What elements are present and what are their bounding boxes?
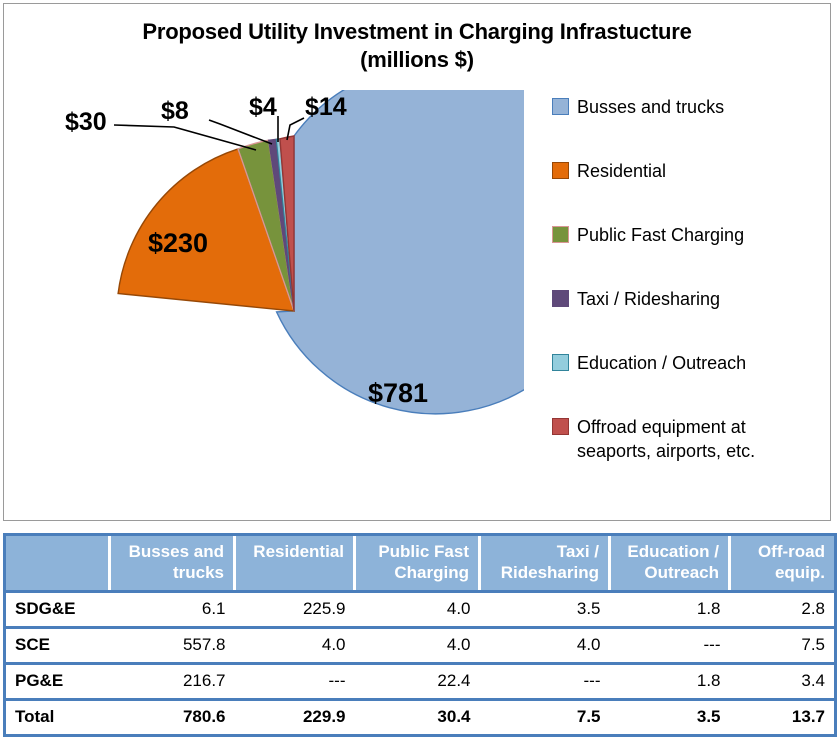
leader-line-taxi-ridesharing <box>209 120 272 144</box>
table-cell: 3.5 <box>610 700 730 736</box>
table-header-offroad-equip: Off-road equip. <box>730 535 836 592</box>
legend-swatch-icon <box>552 226 569 243</box>
legend-item-education-outreach[interactable]: Education / Outreach <box>552 352 827 416</box>
pie-chart: $30 $8 $4 $14 $230 $781 <box>4 90 524 520</box>
pie-callout-education-outreach: $4 <box>249 93 277 121</box>
table-cell: 225.9 <box>235 592 355 628</box>
pie-label-residential: $230 <box>148 228 208 258</box>
legend-item-offroad-equipment[interactable]: Offroad equipment at seaports, airports,… <box>552 416 827 480</box>
table-cell: 1.8 <box>610 664 730 700</box>
pie-label-busses-and-trucks: $781 <box>368 378 428 408</box>
table-cell: 7.5 <box>480 700 610 736</box>
legend-item-taxi-ridesharing[interactable]: Taxi / Ridesharing <box>552 288 827 352</box>
legend-label: Public Fast Charging <box>577 224 744 248</box>
legend-label: Offroad equipment at seaports, airports,… <box>577 416 755 464</box>
legend-label: Taxi / Ridesharing <box>577 288 720 312</box>
table-row-label-total: Total <box>5 700 110 736</box>
table-cell: 229.9 <box>235 700 355 736</box>
table-header-taxi-ridesharing: Taxi / Ridesharing <box>480 535 610 592</box>
legend-swatch-icon <box>552 418 569 435</box>
chart-panel: Proposed Utility Investment in Charging … <box>3 3 831 521</box>
legend-swatch-icon <box>552 290 569 307</box>
chart-title-line2: (millions $) <box>4 46 830 74</box>
table-cell: 13.7 <box>730 700 836 736</box>
table-cell: 1.8 <box>610 592 730 628</box>
chart-title: Proposed Utility Investment in Charging … <box>4 18 830 73</box>
table-corner-cell <box>5 535 110 592</box>
pie-svg: $30 $8 $4 $14 $230 $781 <box>4 90 524 520</box>
table-cell: 216.7 <box>110 664 235 700</box>
legend-label: Residential <box>577 160 666 184</box>
table-header-public-fast-charging: Public Fast Charging <box>355 535 480 592</box>
investment-data-table: Busses and trucks Residential Public Fas… <box>3 533 837 737</box>
table-header-row: Busses and trucks Residential Public Fas… <box>5 535 836 592</box>
table-cell: 4.0 <box>480 628 610 664</box>
table-cell: 4.0 <box>355 592 480 628</box>
legend-swatch-icon <box>552 98 569 115</box>
table-cell: 30.4 <box>355 700 480 736</box>
legend-swatch-icon <box>552 162 569 179</box>
table-header-busses-and-trucks: Busses and trucks <box>110 535 235 592</box>
table-cell: 4.0 <box>235 628 355 664</box>
table-cell: --- <box>235 664 355 700</box>
pie-callout-public-fast-charging: $30 <box>65 108 107 136</box>
table-header-residential: Residential <box>235 535 355 592</box>
legend-label: Busses and trucks <box>577 96 724 120</box>
chart-title-line1: Proposed Utility Investment in Charging … <box>142 19 691 44</box>
table-row: SCE 557.8 4.0 4.0 4.0 --- 7.5 <box>5 628 836 664</box>
table-row: PG&E 216.7 --- 22.4 --- 1.8 3.4 <box>5 664 836 700</box>
table-row: SDG&E 6.1 225.9 4.0 3.5 1.8 2.8 <box>5 592 836 628</box>
table-cell: --- <box>610 628 730 664</box>
leader-line-public-fast-charging <box>114 125 256 150</box>
table-cell: 3.5 <box>480 592 610 628</box>
legend-item-busses-and-trucks[interactable]: Busses and trucks <box>552 96 827 160</box>
table-cell: 7.5 <box>730 628 836 664</box>
table-header-education-outreach: Education / Outreach <box>610 535 730 592</box>
table-row-total: Total 780.6 229.9 30.4 7.5 3.5 13.7 <box>5 700 836 736</box>
legend-item-public-fast-charging[interactable]: Public Fast Charging <box>552 224 827 288</box>
table-cell: 780.6 <box>110 700 235 736</box>
table-cell: 4.0 <box>355 628 480 664</box>
chart-legend: Busses and trucks Residential Public Fas… <box>552 96 827 480</box>
table-cell: 557.8 <box>110 628 235 664</box>
legend-label: Education / Outreach <box>577 352 746 376</box>
table-row-label-sdge: SDG&E <box>5 592 110 628</box>
table-row-label-sce: SCE <box>5 628 110 664</box>
table-cell: --- <box>480 664 610 700</box>
pie-callout-taxi-ridesharing: $8 <box>161 97 189 125</box>
table-cell: 6.1 <box>110 592 235 628</box>
legend-swatch-icon <box>552 354 569 371</box>
legend-item-residential[interactable]: Residential <box>552 160 827 224</box>
pie-callout-offroad-equipment: $14 <box>305 93 347 121</box>
table-cell: 22.4 <box>355 664 480 700</box>
pie-slice-busses-and-trucks[interactable] <box>277 90 524 414</box>
table-cell: 2.8 <box>730 592 836 628</box>
table-row-label-pge: PG&E <box>5 664 110 700</box>
table-cell: 3.4 <box>730 664 836 700</box>
